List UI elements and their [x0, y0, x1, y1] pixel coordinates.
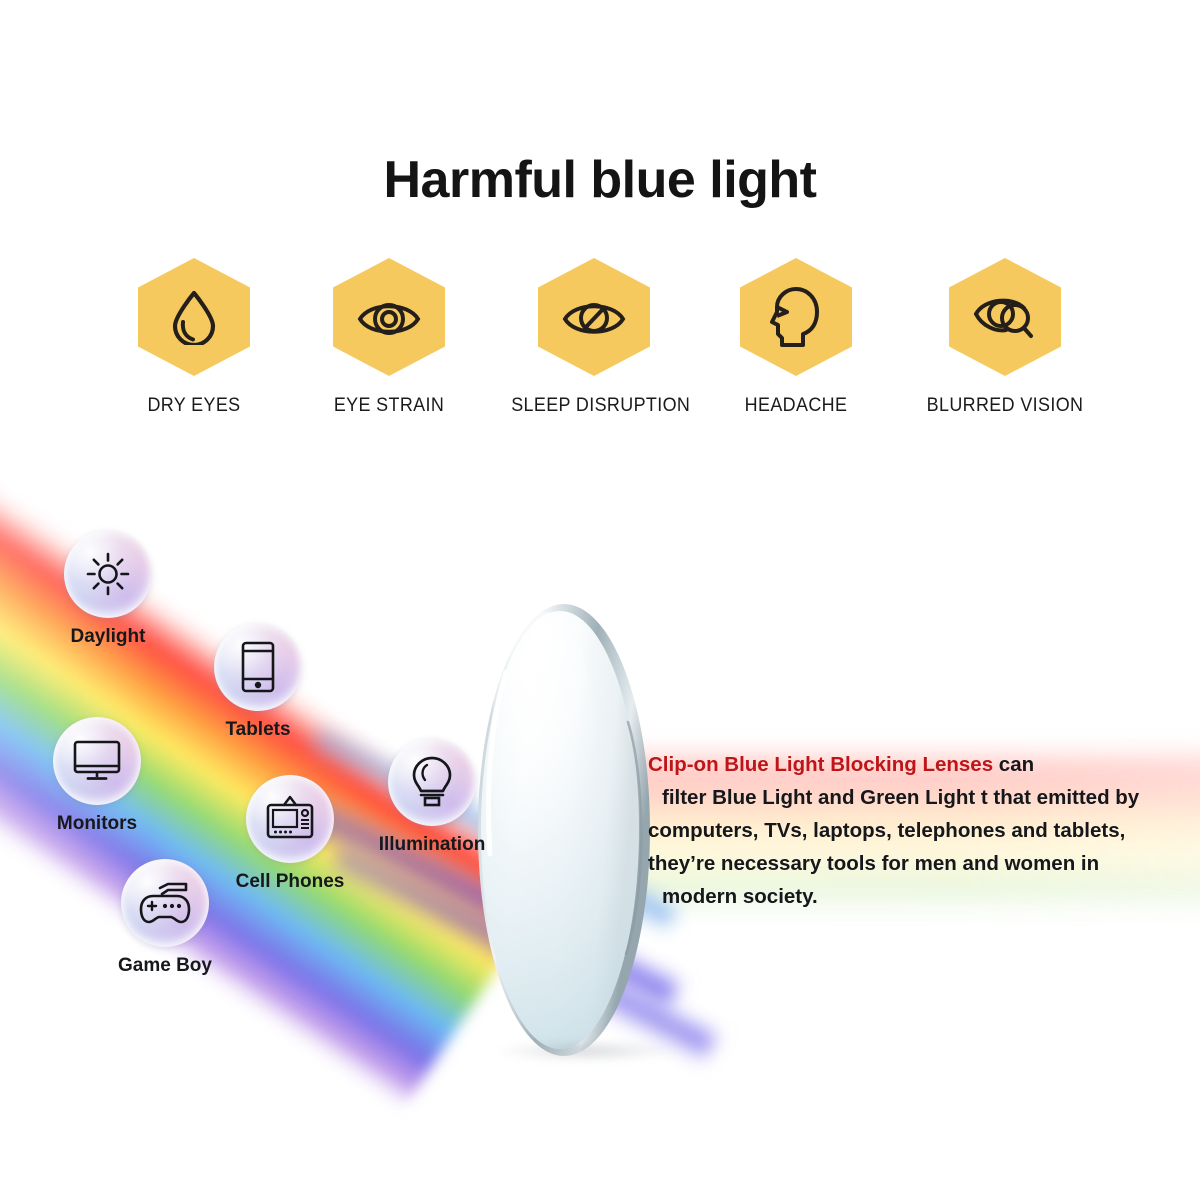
source-daylight[interactable]: Daylight [43, 530, 173, 648]
hexagon-badge [740, 258, 852, 376]
source-illumination[interactable]: Illumination [362, 738, 502, 856]
symptom-dry-eyes[interactable]: DRY EYES [104, 258, 284, 417]
blurred-eye-lens-icon [972, 292, 1038, 342]
lightbulb-icon [411, 755, 453, 809]
hexagon-badge [333, 258, 445, 376]
source-label: Monitors [32, 813, 162, 835]
source-label: Game Boy [100, 955, 230, 977]
strained-eye-icon [356, 294, 422, 340]
symptom-sleep-disruption[interactable]: SLEEP DISRUPTION [504, 258, 684, 417]
bubble [53, 717, 141, 805]
symptom-label: BLURRED VISION [922, 394, 1088, 417]
copy-highlight: Clip-on Blue Light Blocking Lenses [648, 753, 993, 776]
marketing-copy: Clip-on Blue Light Blocking Lenses can f… [648, 748, 1178, 913]
copy-line-2: filter Blue Light and Green Light t that… [648, 781, 1178, 814]
source-cell-phones[interactable]: Cell Phones [225, 775, 355, 893]
symptom-headache[interactable]: HEADACHE [706, 258, 886, 417]
source-game-boy[interactable]: Game Boy [100, 859, 230, 977]
source-tablets[interactable]: Tablets [193, 623, 323, 741]
blue-light-blocking-lens [476, 602, 652, 1064]
symptom-label: DRY EYES [111, 394, 277, 417]
copy-line-5: modern society. [648, 880, 1178, 913]
hexagon-badge [538, 258, 650, 376]
copy-line-4: they’re necessary tools for men and wome… [648, 847, 1178, 880]
copy-line-3: computers, TVs, laptops, telephones and … [648, 814, 1178, 847]
source-label: Tablets [193, 719, 323, 741]
gamepad-icon [138, 879, 192, 927]
copy-line-1-tail: can [993, 753, 1034, 776]
hexagon-badge [949, 258, 1061, 376]
hexagon-badge [138, 258, 250, 376]
bubble [388, 738, 476, 826]
monitor-icon [72, 739, 122, 783]
tablet-icon [240, 641, 276, 693]
lens-shadow [496, 1040, 676, 1062]
symptom-label: HEADACHE [713, 394, 879, 417]
symptom-row: DRY EYES EYE STRAIN [0, 258, 1200, 438]
page-title: Harmful blue light [0, 150, 1200, 210]
source-label: Daylight [43, 626, 173, 648]
symptom-eye-strain[interactable]: EYE STRAIN [299, 258, 479, 417]
bubble [121, 859, 209, 947]
bubble [64, 530, 152, 618]
sun-icon [85, 551, 131, 597]
source-monitors[interactable]: Monitors [32, 717, 162, 835]
symptom-blurred-vision[interactable]: BLURRED VISION [915, 258, 1095, 417]
copy-line-1: Clip-on Blue Light Blocking Lenses can [648, 748, 1178, 781]
water-drop-icon [169, 289, 219, 345]
symptom-label: SLEEP DISRUPTION [511, 394, 677, 417]
bubble [214, 623, 302, 711]
head-profile-icon [769, 286, 823, 348]
lens-ellipse [476, 602, 652, 1064]
source-label: Illumination [362, 834, 502, 856]
symptom-label: EYE STRAIN [306, 394, 472, 417]
tv-icon [264, 793, 316, 845]
source-label: Cell Phones [225, 871, 355, 893]
eye-crossed-out-icon [561, 294, 627, 340]
bubble [246, 775, 334, 863]
infographic-canvas: Harmful blue light DRY EYES [0, 0, 1200, 1200]
